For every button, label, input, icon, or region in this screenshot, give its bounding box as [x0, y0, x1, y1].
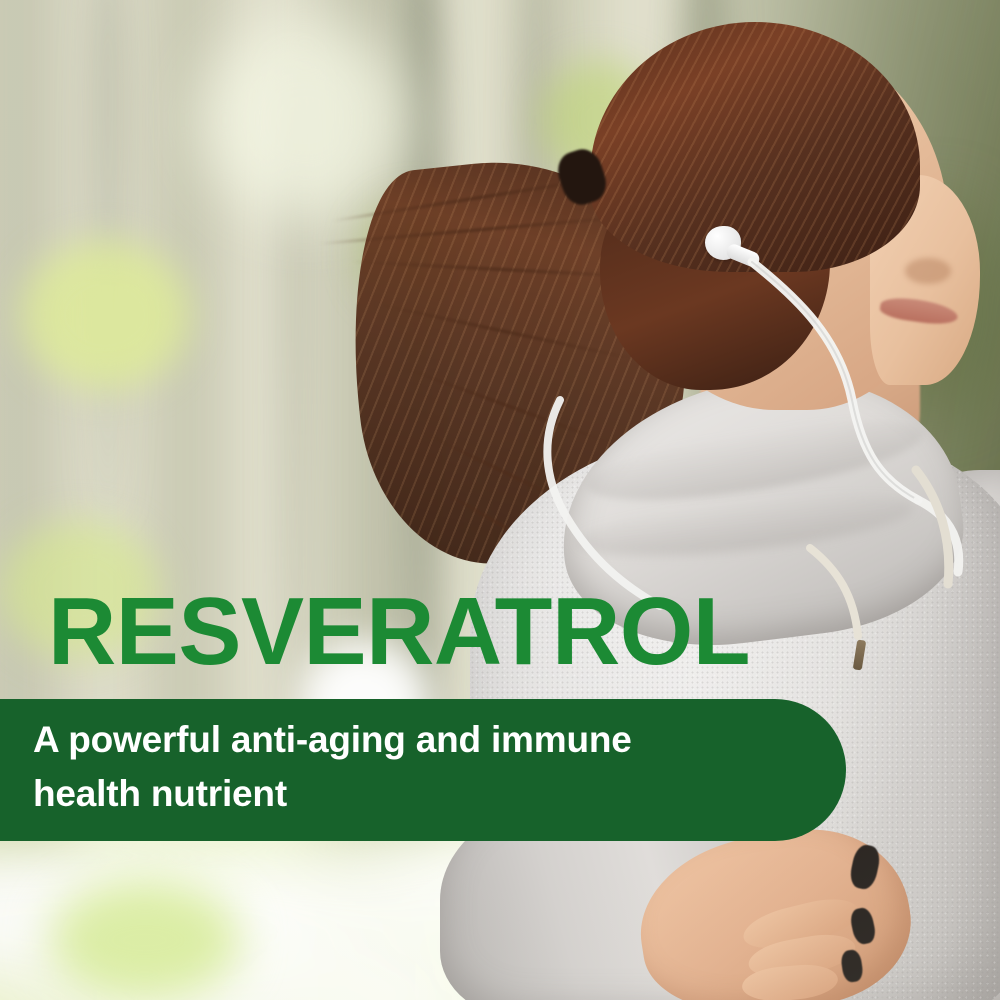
tagline-text: A powerful anti-aging and immune health … — [33, 713, 793, 822]
hair-crown — [590, 22, 920, 272]
page-title: RESVERATROL — [48, 584, 797, 680]
banner-canvas: RESVERATROL A powerful anti-aging and im… — [0, 0, 1000, 1000]
woman-jogger — [0, 0, 1000, 1000]
hero-photograph — [0, 0, 1000, 1000]
tagline-line-2: health nutrient — [33, 767, 793, 821]
tagline-line-1: A powerful anti-aging and immune — [33, 713, 793, 767]
tagline-banner: A powerful anti-aging and immune health … — [0, 699, 846, 841]
nose-shadow — [905, 258, 951, 284]
